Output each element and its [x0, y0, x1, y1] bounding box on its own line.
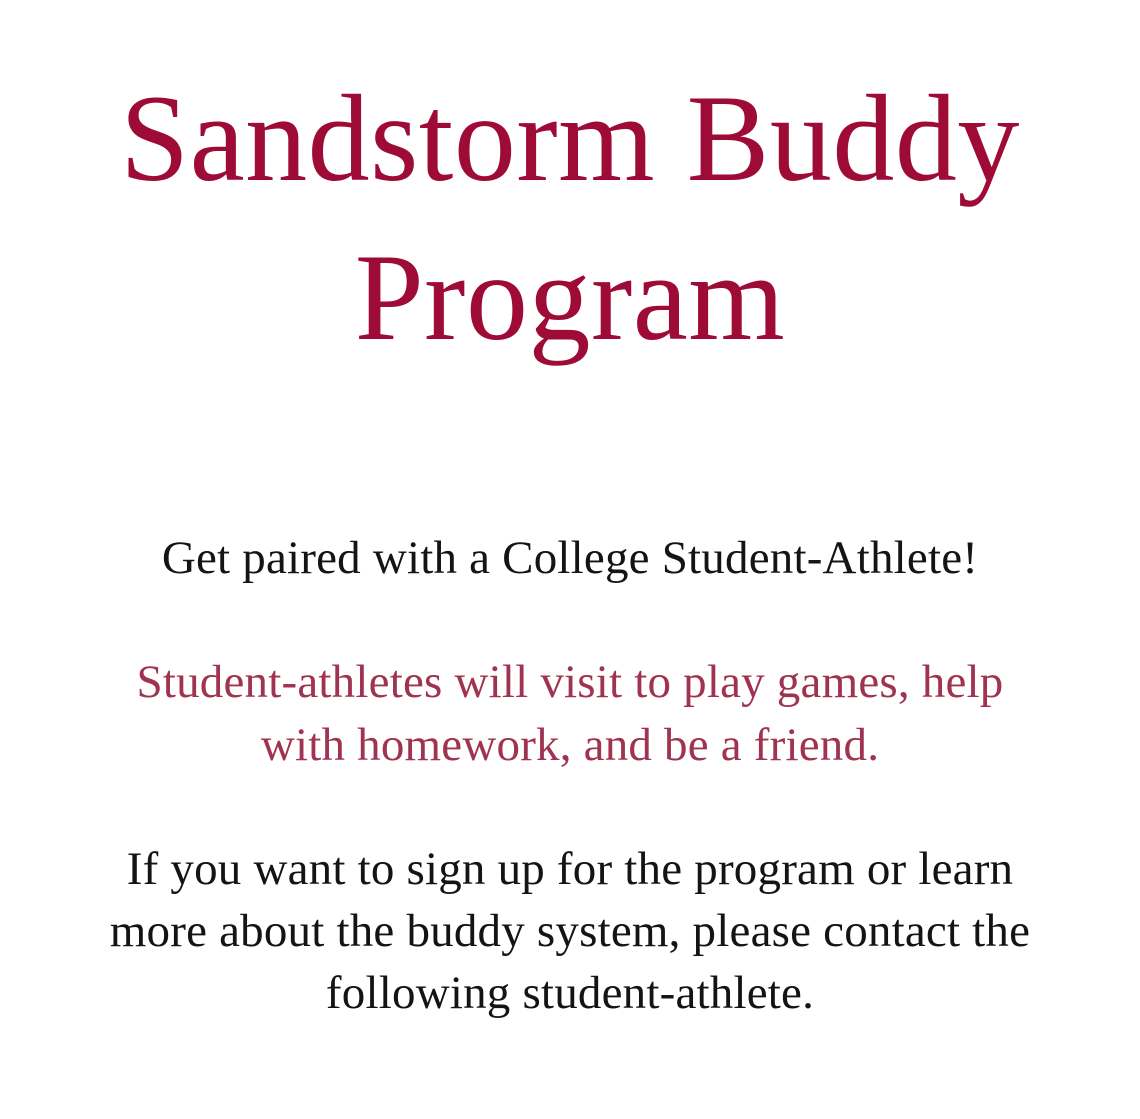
- closing-paragraph: If you want to sign up for the program o…: [75, 838, 1065, 1024]
- flyer-body: Get paired with a College Student-Athlet…: [90, 527, 1050, 1023]
- page-title: Sandstorm Buddy Program: [70, 60, 1070, 377]
- lead-paragraph: Get paired with a College Student-Athlet…: [100, 527, 1040, 589]
- description-paragraph: Student-athletes will visit to play game…: [105, 651, 1035, 775]
- flyer-page: Sandstorm Buddy Program Get paired with …: [0, 0, 1140, 1119]
